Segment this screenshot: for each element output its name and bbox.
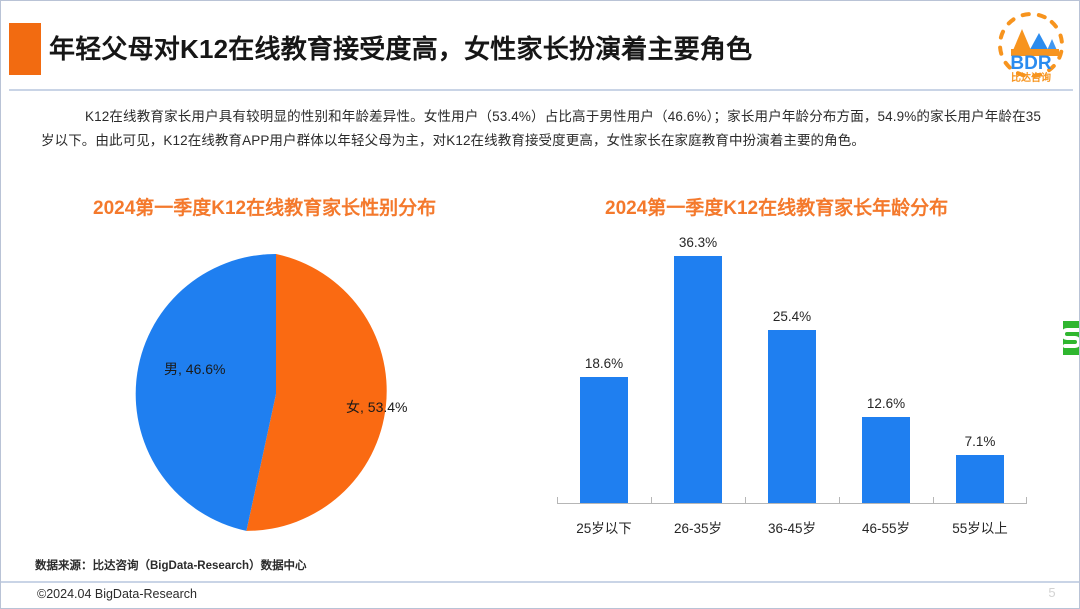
bar-category-label: 36-45岁: [745, 517, 839, 537]
slide-canvas: 年轻父母对K12在线教育接受度高，女性家长扮演着主要角色 BDR 比达咨询: [0, 0, 1080, 609]
bar-column: 12.6%: [839, 231, 933, 503]
slide-header: 年轻父母对K12在线教育接受度高，女性家长扮演着主要角色 BDR 比达咨询: [1, 1, 1080, 91]
logo-mark-text: BDR: [1010, 53, 1051, 74]
bar-rect: [674, 256, 722, 503]
axis-tick: [651, 497, 652, 504]
logo-subtitle-text: 比达咨询: [1011, 71, 1051, 84]
bar-value-label: 18.6%: [557, 356, 651, 371]
bar-category-label: 25岁以下: [557, 517, 651, 537]
bar-chart-title: 2024第一季度K12在线教育家长年龄分布: [605, 193, 948, 220]
bar-rect: [956, 455, 1004, 503]
title-accent-bar: [9, 23, 41, 75]
pie-chart-title: 2024第一季度K12在线教育家长性别分布: [93, 193, 436, 220]
bar-value-label: 36.3%: [651, 235, 745, 250]
header-divider: [9, 89, 1073, 91]
pie-chart: [131, 249, 421, 539]
bar-value-label: 12.6%: [839, 396, 933, 411]
bar-category-label: 55岁以上: [933, 517, 1027, 537]
bar-column: 25.4%: [745, 231, 839, 503]
bar-chart: 18.6% 36.3% 25.4% 12.6% 7.1%: [557, 231, 1027, 541]
pie-label-male: 男, 46.6%: [164, 359, 225, 379]
bar-category-label: 26-35岁: [651, 517, 745, 537]
axis-tick: [933, 497, 934, 504]
page-title: 年轻父母对K12在线教育接受度高，女性家长扮演着主要角色: [49, 25, 909, 73]
bar-rect: [768, 330, 816, 503]
axis-tick: [1026, 497, 1027, 504]
green-edge-icon: [1063, 317, 1080, 361]
copyright-text: ©2024.04 BigData-Research: [37, 587, 197, 601]
bar-category-label: 46-55岁: [839, 517, 933, 537]
bar-column: 7.1%: [933, 231, 1027, 503]
bar-rect: [580, 377, 628, 503]
axis-tick: [839, 497, 840, 504]
axis-line: [557, 503, 1027, 504]
bar-column: 18.6%: [557, 231, 651, 503]
bar-value-label: 7.1%: [933, 434, 1027, 449]
bdr-logo: BDR 比达咨询: [989, 9, 1073, 85]
bar-column: 36.3%: [651, 231, 745, 503]
axis-tick: [745, 497, 746, 504]
logo-mountain-icon: [1011, 29, 1059, 56]
bar-rect: [862, 417, 910, 503]
intro-paragraph: K12在线教育家长用户具有较明显的性别和年龄差异性。女性用户（53.4%）占比高…: [41, 105, 1041, 153]
data-source-note: 数据来源：比达咨询（BigData-Research）数据中心: [35, 557, 307, 573]
bdr-logo-icon: BDR 比达咨询: [989, 9, 1073, 85]
bar-x-axis: [557, 503, 1027, 510]
pie-label-female: 女, 53.4%: [346, 397, 407, 417]
page-number: 5: [1041, 585, 1063, 600]
pie-slice-male: [136, 254, 276, 531]
bar-value-label: 25.4%: [745, 309, 839, 324]
bar-plot-area: 18.6% 36.3% 25.4% 12.6% 7.1%: [557, 231, 1027, 503]
axis-tick: [557, 497, 558, 504]
